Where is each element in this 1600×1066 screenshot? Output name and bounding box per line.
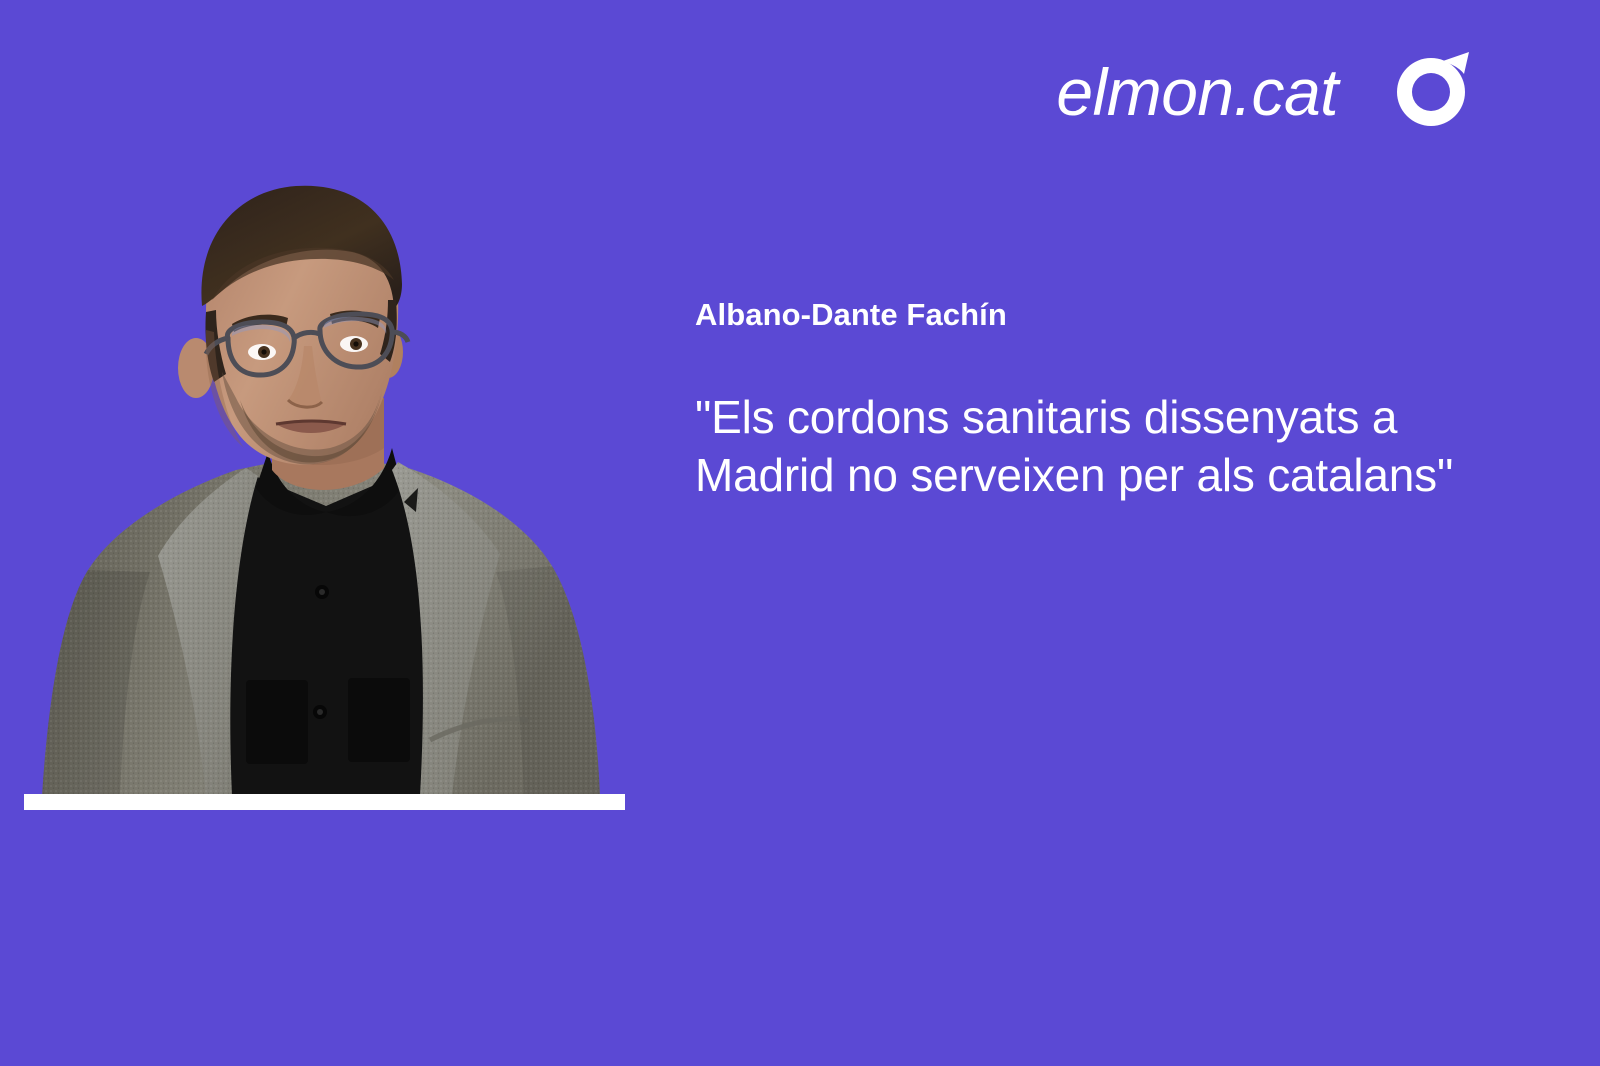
quote-text: "Els cordons sanitaris dissenyats a Madr… [695,333,1485,505]
brand-header: elmon.cat [1056,48,1472,136]
quote-block: Albano-Dante Fachín "Els cordons sanitar… [695,296,1485,505]
portrait-photo [0,0,660,810]
brand-wordmark: elmon.cat [1056,59,1338,125]
quote-card-image: elmon.cat [0,0,1600,1066]
speaker-name: Albano-Dante Fachín [695,296,1485,333]
accent-underline-bar [24,794,625,810]
elmon-circle-flag-logo-icon [1390,48,1472,136]
